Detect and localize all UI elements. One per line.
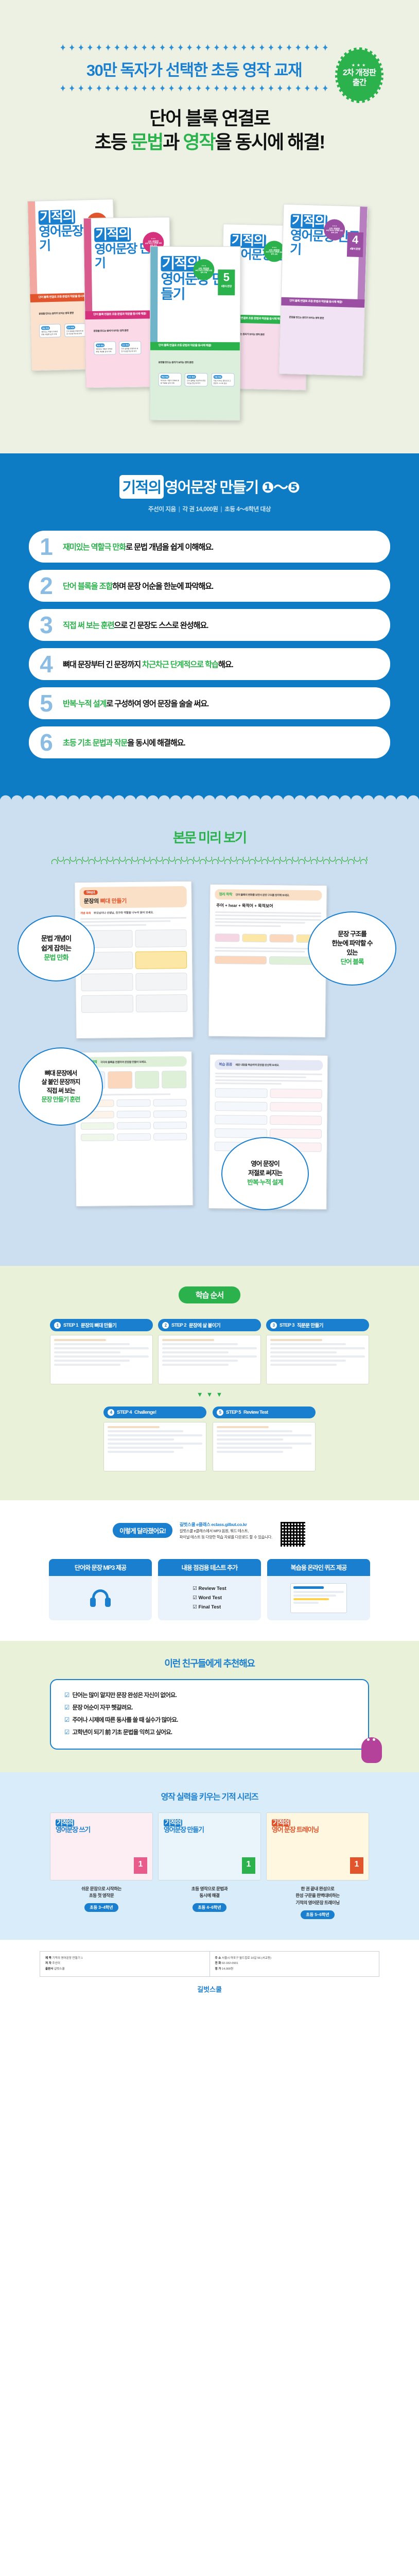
bubble-accent: 반복·누적 설계 xyxy=(247,1178,283,1188)
recommend-list: ☑단어는 많이 알지만 문장 완성은 자신이 없어요. ☑문장 어순이 자꾸 헷… xyxy=(64,1689,355,1739)
footer-col-1: 제 목 기적의 영어문장 만들기 1 저 자 주선이 출판사 길벗스쿨 xyxy=(40,1952,209,1976)
step-label: STEP 3 xyxy=(280,1323,294,1328)
step-text: 직문문 만들기 xyxy=(297,1321,323,1329)
extras-label: 이렇게 달라졌어요! xyxy=(113,1523,172,1538)
feature-list: 1 재미있는 역할극 만화로 문법 개념을 쉽게 이해해요. 2 단어 블록을 … xyxy=(29,531,390,758)
hero-title-seg-e: 을 동시에 해결! xyxy=(215,131,325,152)
series-badge-3: 초등 5~6학년 xyxy=(301,1910,334,1919)
study-order-title: 학습 순서 xyxy=(179,1286,240,1303)
extras-card-3: 복습용 온라인 퀴즈 제공 xyxy=(267,1559,370,1620)
callout-bubble-1: 문법 개념이 쉽게 잡히는 문법 만화 xyxy=(18,916,95,981)
step-card-4: 4 STEP 4 Challenge! xyxy=(103,1406,206,1471)
step-label: STEP 2 xyxy=(171,1323,186,1328)
bubble-accent: 단어 블록 xyxy=(341,958,364,967)
feature-number: 2 xyxy=(29,574,63,598)
extras-card-body: ☑ Review Test ☑ Word Test ☑ Final Test xyxy=(158,1576,261,1620)
book-cover-5: 기적의 영어문장 만들기 ★★★ 2차 개정판 30만 독자가 선택한 초등 영… xyxy=(278,204,368,376)
feature-row-4: 4 뼈대 문장부터 긴 문장까지 차근차근 단계적으로 학습해요. xyxy=(29,648,390,680)
extras-card-list: ☑ Review Test ☑ Word Test ☑ Final Test xyxy=(193,1584,226,1612)
headphone-icon xyxy=(90,1589,111,1607)
feature-text: 초등 기초 문법과 작문을 동시에 해결해요. xyxy=(63,737,185,748)
shot-rows xyxy=(215,1088,322,1098)
shot-panels xyxy=(81,973,187,991)
stamp-stars: ★★★ xyxy=(352,63,368,67)
arrow-down-icon: ▼ xyxy=(216,1391,222,1398)
step-number: 1 xyxy=(54,1322,61,1329)
list-item: ☑ Word Test xyxy=(193,1594,226,1603)
extras-desc-line-1: 길벗스쿨 e클래스에서 MP3 음원, 워드 테스트, xyxy=(180,1528,272,1534)
shot-rows xyxy=(215,1101,322,1112)
extras-card-title: 내용 점검용 테스트 추가 xyxy=(158,1559,261,1576)
mascot-eye-right xyxy=(373,1738,375,1741)
series-cover-title: 기적의 영어문장 만들기 xyxy=(164,1819,204,1834)
step-caption: 1 STEP 1 문장의 뼈대 만들기 xyxy=(50,1319,153,1331)
series-price: 각 권 14,000원 xyxy=(183,506,218,513)
step-thumbnail xyxy=(50,1335,153,1384)
bubble-line: 영어 문장이 xyxy=(251,1160,279,1169)
book-chip: 단어 목표단어 블록을 조합하여 문장 어순을 한눈에 파악 xyxy=(185,373,208,386)
shot-header-1: Step1 문장의 뼈대 만들기 xyxy=(80,886,187,908)
step-card-1: 1 STEP 1 문장의 뼈대 만들기 xyxy=(50,1319,153,1384)
extras-card-1: 단어와 문장 MP3 제공 xyxy=(49,1559,152,1620)
bubble-line: 문법 개념이 xyxy=(41,934,71,944)
feature-row-1: 1 재미있는 역할극 만화로 문법 개념을 쉽게 이해해요. xyxy=(29,531,390,563)
squiggle-divider xyxy=(51,857,368,864)
series-cover-2: 기적의 영어문장 만들기 1 xyxy=(158,1812,261,1880)
shot-subbadge-1: 개념 쏙쏙 부모님이나 선생님, 친구와 역할을 나누어 읽어 보세요. xyxy=(80,910,186,915)
series-title-boxed: 기적의 xyxy=(119,475,163,499)
step-row-top: 1 STEP 1 문장의 뼈대 만들기 2 STEP 2 문장에 살 붙이기 xyxy=(0,1319,419,1384)
series-cover-number: 1 xyxy=(134,1857,147,1874)
series-title-rest: 영어문장 만들기 ❶〜❺ xyxy=(165,480,300,496)
bubble-line-accent-wrap: 있는 단어 블록 xyxy=(341,948,364,967)
feature-number: 5 xyxy=(29,691,63,715)
bubble-line: 문장 구조를 xyxy=(338,930,366,939)
series-cover-3: 기적의 영어 문장 트레이닝 1 xyxy=(266,1812,369,1880)
stamp-line-1: 2차 개정판 xyxy=(343,69,376,78)
callout-bubble-2: 문장 구조를 한눈에 파악할 수 있는 단어 블록 xyxy=(308,911,396,986)
bubble-accent: 문법 만화 xyxy=(44,953,68,963)
series-cover-number: 1 xyxy=(242,1857,255,1874)
check-icon: ☑ xyxy=(64,1730,69,1736)
preview-title: 본문 미리 보기 xyxy=(0,827,419,846)
wave-divider xyxy=(0,789,419,801)
step-thumbnail xyxy=(158,1335,261,1384)
book-chip: 핵심 목표재미있는 역할극 만화로 문법 개념을 쉽게 이해 xyxy=(39,324,61,338)
mascot-character xyxy=(358,1731,385,1763)
series-badge-1: 초등 3~4학년 xyxy=(84,1903,118,1912)
feature-number: 1 xyxy=(29,535,63,558)
arrow-down-icon: ▼ xyxy=(197,1391,203,1398)
extras-header: 이렇게 달라졌어요! 길벗스쿨 e클래스 eclass.gilbut.co.kr… xyxy=(0,1521,419,1548)
hero-section: ✦✦✦✦✦✦✦✦✦✦✦✦✦✦✦✦✦✦✦✦✦✦✦✦✦✦✦✦✦✦ 30만 독자가 선… xyxy=(0,0,419,453)
step-caption: 5 STEP 5 Review Test xyxy=(213,1406,316,1418)
bubble-accent: 문장 만들기 훈련 xyxy=(42,1095,80,1104)
extras-desc-line-2: 파이널 테스트 등 다양한 학습 자료를 다운로드 할 수 있습니다. xyxy=(180,1534,272,1540)
step-thumbnail xyxy=(266,1335,369,1384)
check-icon: ☑ xyxy=(193,1604,197,1610)
book-chip: 단어 목표단어 블록을 조합하여 문장 어순을 한눈에 파악 xyxy=(119,341,141,354)
series-desc-3: 한 권 끝내 완성으로 완성 구문을 완벽대비하는 기적의 영어문장 트레이닝 xyxy=(266,1886,369,1907)
bubble-line: 살 붙인 문장까지 xyxy=(42,1078,80,1087)
extras-card-2: 내용 점검용 테스트 추가 ☑ Review Test ☑ Word Test … xyxy=(158,1559,261,1620)
check-icon: ☑ xyxy=(193,1586,197,1591)
series-desc-2: 초등 영작으로 문법과 동시에 해결 xyxy=(158,1886,261,1900)
mascot-eye-left xyxy=(367,1738,370,1741)
book-note-3: 문장을 만드는 원리가 보이는 영작 훈련 xyxy=(159,361,236,365)
bubble-line: 한눈에 파악할 수 xyxy=(331,939,372,948)
feature-text: 직접 써 보는 훈련으로 긴 문장도 스스로 완성해요. xyxy=(63,619,208,631)
series-title: 기적의영어문장 만들기 ❶〜❺ xyxy=(0,453,419,499)
feature-row-2: 2 단어 블록을 조합하며 문장 어순을 한눈에 파악해요. xyxy=(29,570,390,602)
series-desc-1: 쉬운 문장으로 시작하는 초등 첫 영작문 xyxy=(50,1886,153,1900)
step-label: STEP 1 xyxy=(63,1323,78,1328)
book-band-3: 단어 블록 연결로 초등 문법과 작문을 동시에 해결! xyxy=(150,342,240,350)
step-label: STEP 4 xyxy=(117,1410,132,1415)
series-item-1[interactable]: 기적의 영어문장 쓰기 1 쉬운 문장으로 시작하는 초등 첫 영작문 초등 3… xyxy=(50,1812,153,1919)
series-section: 영작 실력을 키우는 기적 시리즈 기적의 영어문장 쓰기 1 쉬운 문장으로 … xyxy=(0,1772,419,1940)
step-card-2: 2 STEP 2 문장에 살 붙이기 xyxy=(158,1319,261,1384)
shot-heading-2: 주어 + hear + 목적어 + 목적보어 xyxy=(216,903,320,909)
series-cover-title: 기적의 영어 문장 트레이닝 xyxy=(272,1819,319,1834)
series-cover-title: 기적의 영어문장 쓰기 xyxy=(56,1819,90,1834)
list-item: ☑고학년이 되기 前 기초 문법을 익히고 싶어요. xyxy=(64,1726,355,1739)
hero-title-seg-c: 과 xyxy=(163,131,183,152)
step-number: 3 xyxy=(270,1322,277,1329)
shot-header-4: 복습 꼼꼼 배운 내용을 복습하며 문장을 완성해 보세요. xyxy=(215,1059,323,1071)
book-fan-image: 기적의 영어문장 만들기 ★★★ 2차 개정판 30만 독자가 선택한 초등 영… xyxy=(0,175,419,392)
series-cover-1: 기적의 영어문장 쓰기 1 xyxy=(50,1812,153,1880)
shot-rows xyxy=(81,1110,187,1118)
series-author: 주선이 지음 xyxy=(148,506,176,513)
check-icon: ☑ xyxy=(64,1717,69,1723)
shot-rows xyxy=(81,1122,187,1130)
extras-section: 이렇게 달라졌어요! 길벗스쿨 e클래스 eclass.gilbut.co.kr… xyxy=(0,1500,419,1641)
shot-rows xyxy=(81,1133,187,1141)
feature-number: 4 xyxy=(29,652,63,676)
shot-panels xyxy=(81,951,187,970)
book-ribbon-3: 5 5형식 문장 xyxy=(218,269,235,295)
feature-number: 3 xyxy=(29,613,63,637)
shot-header-2: 정리 착착 단어 블록의 변화를 보면서 문장 구조를 정리해 보세요. xyxy=(215,889,322,901)
book-chip: 핵심 목표재미있는 역할극 만화로 문법 개념을 쉽게 이해 xyxy=(159,373,182,386)
step-label: STEP 5 xyxy=(226,1410,241,1415)
step-caption: 4 STEP 4 Challenge! xyxy=(103,1406,206,1418)
hero-title-line-1: 단어 블록 연결로 xyxy=(0,107,419,130)
bubble-line: 저절로 써지는 xyxy=(248,1169,282,1178)
series-section-title: 영작 실력을 키우는 기적 시리즈 xyxy=(0,1790,419,1802)
step-text: Review Test xyxy=(243,1410,268,1415)
blue-feature-section: 기적의영어문장 만들기 ❶〜❺ 주선이 지음|각 권 14,000원|초등 4〜… xyxy=(0,453,419,789)
arrow-down-icon: ▼ xyxy=(206,1391,213,1398)
step-card-5: 5 STEP 5 Review Test xyxy=(213,1406,316,1471)
extras-card-body xyxy=(49,1576,152,1620)
list-item: ☑단어는 많이 알지만 문장 완성은 자신이 없어요. xyxy=(64,1689,355,1702)
extras-card-title: 복습용 온라인 퀴즈 제공 xyxy=(267,1559,370,1576)
hero-title: 단어 블록 연결로 초등 문법과 영작을 동시에 해결! xyxy=(0,107,419,154)
feature-row-6: 6 초등 기초 문법과 작문을 동시에 해결해요. xyxy=(29,726,390,758)
step-caption: 3 STEP 3 직문문 만들기 xyxy=(266,1319,369,1331)
shot-rows xyxy=(215,1115,322,1125)
step-card-3: 3 STEP 3 직문문 만들기 xyxy=(266,1319,369,1384)
footer: 제 목 기적의 영어문장 만들기 1 저 자 주선이 출판사 길벗스쿨 주 소 … xyxy=(0,1940,419,2007)
publisher-logo: 길벗스쿨 xyxy=(0,1984,419,1994)
extras-site-url: eclass.gilbut.co.kr xyxy=(211,1522,247,1527)
step-number: 4 xyxy=(108,1409,114,1416)
feature-number: 6 xyxy=(29,731,63,754)
promo-page: ✦✦✦✦✦✦✦✦✦✦✦✦✦✦✦✦✦✦✦✦✦✦✦✦✦✦✦✦✦✦ 30만 독자가 선… xyxy=(0,0,419,2007)
extras-description: 길벗스쿨 e클래스 eclass.gilbut.co.kr 길벗스쿨 e클래스에… xyxy=(180,1521,272,1541)
recommend-section: 이런 친구들에게 추천해요 ☑단어는 많이 알지만 문장 완성은 자신이 없어요… xyxy=(0,1641,419,1772)
bubble-line: 쉽게 잡히는 xyxy=(41,944,71,954)
book-chip: 단어 목표단어 블록을 조합하여 문장 어순을 한눈에 파악 xyxy=(64,324,86,337)
hero-title-seg-d: 영작 xyxy=(183,131,215,152)
quiz-icon xyxy=(290,1583,347,1613)
callout-bubble-4: 영어 문장이 저절로 써지는 반복·누적 설계 xyxy=(221,1137,309,1210)
series-cover-number: 1 xyxy=(350,1857,363,1874)
preview-shot-2: 정리 착착 단어 블록의 변화를 보면서 문장 구조를 정리해 보세요. 주어 … xyxy=(208,884,327,1038)
step-thumbnail xyxy=(213,1422,316,1471)
step-text: Challenge! xyxy=(134,1410,156,1415)
list-item: ☑문장 어순이 자꾸 헷갈려요. xyxy=(64,1702,355,1714)
extras-cards: 단어와 문장 MP3 제공 내용 점검용 테스트 추가 ☑ Review Tes… xyxy=(0,1559,419,1620)
stamp-line-2: 출간 xyxy=(353,78,366,88)
feature-text: 반복·누적 설계로 구성하여 영어 문장을 술술 써요. xyxy=(63,698,208,709)
extras-card-body xyxy=(267,1576,370,1620)
series-meta: 주선이 지음|각 권 14,000원|초등 4〜6학년 대상 xyxy=(0,505,419,513)
shot-lines xyxy=(80,917,186,926)
shot-lines xyxy=(215,946,321,953)
bubble-line: 직접 써 보는 xyxy=(47,1087,75,1095)
step-text: 문장의 뼈대 만들기 xyxy=(81,1321,116,1329)
qr-code-icon[interactable] xyxy=(280,1521,306,1548)
callout-bubble-3: 뼈대 문장에서 살 붙인 문장까지 직접 써 보는 문장 만들기 훈련 xyxy=(19,1047,103,1126)
study-order-section: 학습 순서 1 STEP 1 문장의 뼈대 만들기 2 STEP 2 문장에 살… xyxy=(0,1266,419,1500)
shot-blocks xyxy=(215,956,321,965)
book-chip: 핵심 목표재미있는 역할극 만화로 문법 개념을 쉽게 이해 xyxy=(94,342,116,355)
feature-text: 뼈대 문장부터 긴 문장까지 차근차근 단계적으로 학습해요. xyxy=(63,658,233,670)
footer-info-box: 제 목 기적의 영어문장 만들기 1 저 자 주선이 출판사 길벗스쿨 주 소 … xyxy=(40,1951,379,1977)
flow-arrows: ▼ ▼ ▼ xyxy=(0,1391,419,1398)
footer-col-2: 주 소 서울시 마포구 월드컵로 10길 56 (서교동) 전 화 02-332… xyxy=(209,1952,379,1976)
list-item: ☑주어나 시제에 따른 동사를 쓸 때 실수가 많아요. xyxy=(64,1714,355,1726)
shot-badge: 정리 착착 xyxy=(219,893,232,896)
mascot-body xyxy=(361,1737,382,1763)
feature-text: 재미있는 역할극 만화로 문법 개념을 쉽게 이해해요. xyxy=(63,541,213,552)
recommend-title: 이런 친구들에게 추천해요 xyxy=(0,1656,419,1670)
hero-title-seg-b: 문법 xyxy=(131,131,163,152)
check-icon: ☑ xyxy=(193,1595,197,1601)
step-text: 문장에 살 붙이기 xyxy=(189,1321,220,1329)
step-number: 5 xyxy=(217,1409,223,1416)
feature-text: 단어 블록을 조합하며 문장 어순을 한눈에 파악해요. xyxy=(63,580,213,591)
check-icon: ☑ xyxy=(64,1705,69,1711)
step-thumbnail xyxy=(103,1422,206,1471)
step-number: 2 xyxy=(162,1322,169,1329)
recommend-box: ☑단어는 많이 알지만 문장 완성은 자신이 없어요. ☑문장 어순이 자꾸 헷… xyxy=(50,1679,369,1750)
book-chip: 작문 목표직접 써 보는 훈련으로 긴 문장도 스스로 완성 xyxy=(212,373,235,386)
preview-section: 본문 미리 보기 Step1 문장의 뼈대 만들기 개념 쏙쏙 부모님이나 선생… xyxy=(0,801,419,1266)
book-foot-5 xyxy=(279,302,364,376)
hero-title-line-2: 초등 문법과 영작을 동시에 해결! xyxy=(0,130,419,154)
book-chips-3: 핵심 목표재미있는 역할극 만화로 문법 개념을 쉽게 이해 단어 목표단어 블… xyxy=(159,373,236,386)
shot-panels xyxy=(80,929,186,948)
step-row-bottom: 4 STEP 4 Challenge! 5 STEP 5 Review Test xyxy=(0,1406,419,1471)
list-item: ☑ Review Test xyxy=(193,1584,226,1594)
shot-panels xyxy=(81,994,187,1013)
preview-shots: Step1 문장의 뼈대 만들기 개념 쏙쏙 부모님이나 선생님, 친구와 역할… xyxy=(0,882,419,1237)
hero-title-seg-a: 초등 xyxy=(95,131,131,152)
list-item: ☑ Final Test xyxy=(193,1603,226,1612)
series-item-2[interactable]: 기적의 영어문장 만들기 1 초등 영작으로 문법과 동시에 해결 초등 4~6… xyxy=(158,1812,261,1919)
shot-badge: Step1 xyxy=(84,890,98,895)
extras-site-name: 길벗스쿨 e클래스 xyxy=(180,1522,211,1527)
book-seal-3: ★★★ 2차 개정판 30만 독자가 선택한 초등 영작 교재 xyxy=(193,259,214,280)
series-target: 초등 4〜6학년 대상 xyxy=(224,506,271,513)
shot-badge: 복습 꼼꼼 xyxy=(219,1063,232,1066)
step-caption: 2 STEP 2 문장에 살 붙이기 xyxy=(158,1319,261,1331)
book-cover-3: 기적의 영어문장 만들기 ★★★ 2차 개정판 30만 독자가 선택한 초등 영… xyxy=(149,246,240,421)
series-badge-2: 초등 4~6학년 xyxy=(193,1903,226,1912)
book-ribbon-5: 4 4형식 문장 xyxy=(347,232,363,257)
check-icon: ☑ xyxy=(64,1692,69,1699)
feature-row-5: 5 반복·누적 설계로 구성하여 영어 문장을 술술 써요. xyxy=(29,687,390,719)
revision-stamp-badge: ★★★ 2차 개정판 출간 xyxy=(337,49,381,101)
bubble-line: 뼈대 문장에서 xyxy=(45,1069,77,1078)
extras-site: 길벗스쿨 e클래스 eclass.gilbut.co.kr xyxy=(180,1521,272,1528)
shot-blocks xyxy=(215,933,321,942)
feature-row-3: 3 직접 써 보는 훈련으로 긴 문장도 스스로 완성해요. xyxy=(29,609,390,641)
shot-lines xyxy=(215,1073,322,1085)
shot-lines xyxy=(215,911,321,927)
series-row: 기적의 영어문장 쓰기 1 쉬운 문장으로 시작하는 초등 첫 영작문 초등 3… xyxy=(0,1812,419,1919)
extras-card-title: 단어와 문장 MP3 제공 xyxy=(49,1559,152,1576)
series-item-3[interactable]: 기적의 영어 문장 트레이닝 1 한 권 끝내 완성으로 완성 구문을 완벽대비… xyxy=(266,1812,369,1919)
